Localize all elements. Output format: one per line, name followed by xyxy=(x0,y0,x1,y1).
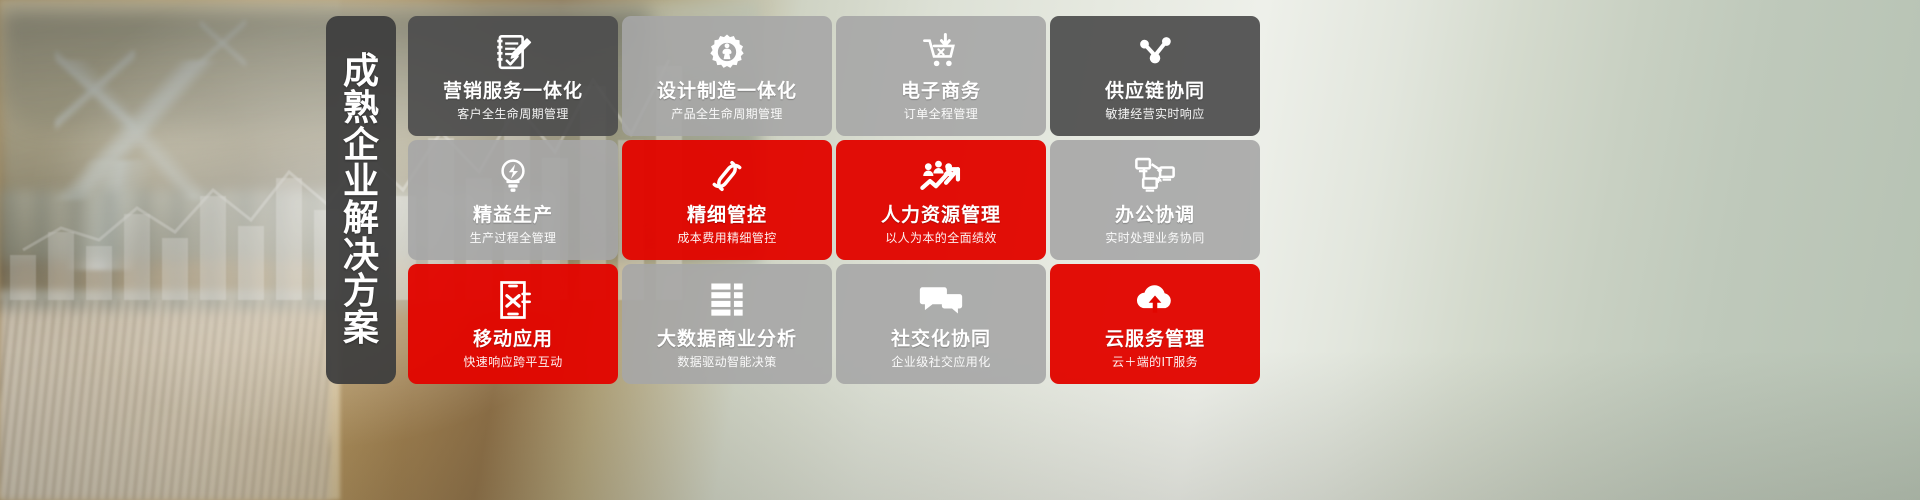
lightbulb-bolt-icon xyxy=(490,153,536,199)
solution-card-office-coordination[interactable]: 办公协调 实时处理业务协同 xyxy=(1050,140,1260,260)
title-char-4: 业 xyxy=(343,164,379,201)
title-char-7: 方 xyxy=(343,274,379,311)
card-title: 大数据商业分析 xyxy=(657,329,797,351)
title-char-2: 熟 xyxy=(343,91,379,128)
card-title: 供应链协同 xyxy=(1105,81,1205,103)
solution-banner: 成 熟 企 业 解 决 方 案 营销服务一体化 客户全生命周期管理 xyxy=(326,16,1260,384)
solution-card-design-manufacture[interactable]: 设计制造一体化 产品全生命周期管理 xyxy=(622,16,832,136)
networked-computers-icon xyxy=(1132,153,1178,199)
card-subtitle: 生产过程全管理 xyxy=(470,231,557,245)
solution-card-supply-chain[interactable]: 供应链协同 敏捷经营实时响应 xyxy=(1050,16,1260,136)
card-subtitle: 云＋端的IT服务 xyxy=(1112,355,1198,369)
card-subtitle: 订单全程管理 xyxy=(904,107,978,121)
card-subtitle: 成本费用精细管控 xyxy=(677,231,776,245)
card-subtitle: 企业级社交应用化 xyxy=(891,355,990,369)
card-title: 营销服务一体化 xyxy=(443,81,583,103)
chat-bubbles-icon xyxy=(918,277,964,323)
card-subtitle: 快速响应跨平互动 xyxy=(463,355,562,369)
card-subtitle: 客户全生命周期管理 xyxy=(457,107,569,121)
mobile-device-icon xyxy=(490,277,536,323)
card-title: 精益生产 xyxy=(473,205,553,227)
title-char-3: 企 xyxy=(343,128,379,165)
data-server-bars-icon xyxy=(704,277,750,323)
title-char-5: 解 xyxy=(343,201,379,238)
card-title: 电子商务 xyxy=(901,81,981,103)
title-char-6: 决 xyxy=(343,238,379,275)
solution-card-grid: 营销服务一体化 客户全生命周期管理 设计制造一体化 产品全生命周期管理 xyxy=(408,16,1260,384)
card-subtitle: 产品全生命周期管理 xyxy=(671,107,783,121)
card-title: 云服务管理 xyxy=(1105,329,1205,351)
card-title: 精细管控 xyxy=(687,205,767,227)
solution-card-ecommerce[interactable]: 电子商务 订单全程管理 xyxy=(836,16,1046,136)
solution-card-mobile-app[interactable]: 移动应用 快速响应跨平互动 xyxy=(408,264,618,384)
gear-person-icon xyxy=(704,29,750,75)
clipboard-pencil-icon xyxy=(490,29,536,75)
card-title: 移动应用 xyxy=(473,329,553,351)
solution-card-marketing-service[interactable]: 营销服务一体化 客户全生命周期管理 xyxy=(408,16,618,136)
card-title: 设计制造一体化 xyxy=(657,81,797,103)
title-char-8: 案 xyxy=(343,311,379,348)
solution-card-lean-production[interactable]: 精益生产 生产过程全管理 xyxy=(408,140,618,260)
chain-link-icon xyxy=(704,153,750,199)
solution-card-social-collaboration[interactable]: 社交化协同 企业级社交应用化 xyxy=(836,264,1046,384)
card-subtitle: 数据驱动智能决策 xyxy=(677,355,776,369)
card-title: 社交化协同 xyxy=(891,329,991,351)
solution-card-big-data-analysis[interactable]: 大数据商业分析 数据驱动智能决策 xyxy=(622,264,832,384)
card-title: 办公协调 xyxy=(1115,205,1195,227)
card-subtitle: 实时处理业务协同 xyxy=(1105,231,1204,245)
cloud-upload-icon xyxy=(1132,277,1178,323)
solution-card-cloud-service[interactable]: 云服务管理 云＋端的IT服务 xyxy=(1050,264,1260,384)
network-nodes-icon xyxy=(1132,29,1178,75)
solution-card-human-resources[interactable]: 人力资源管理 以人为本的全面绩效 xyxy=(836,140,1046,260)
card-subtitle: 敏捷经营实时响应 xyxy=(1105,107,1204,121)
solution-card-fine-control[interactable]: 精细管控 成本费用精细管控 xyxy=(622,140,832,260)
vertical-title-card: 成 熟 企 业 解 决 方 案 xyxy=(326,16,396,384)
card-title: 人力资源管理 xyxy=(881,205,1001,227)
title-char-1: 成 xyxy=(343,54,379,91)
shopping-cart-download-icon xyxy=(918,29,964,75)
card-subtitle: 以人为本的全面绩效 xyxy=(885,231,997,245)
people-growth-arrow-icon xyxy=(918,153,964,199)
